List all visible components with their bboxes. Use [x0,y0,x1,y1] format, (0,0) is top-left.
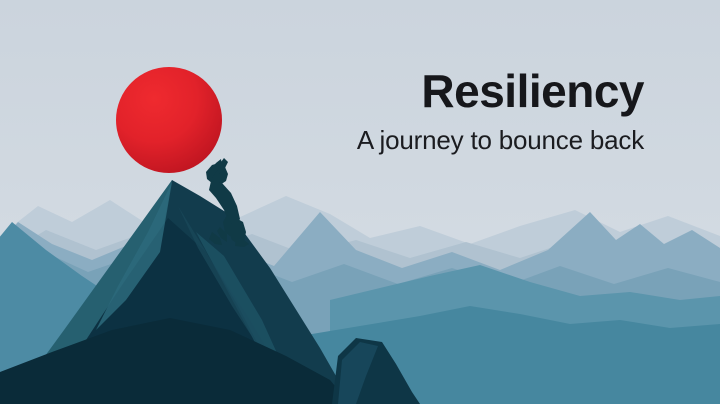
red-ball [116,67,222,173]
poster-canvas: Resiliency A journey to bounce back [0,0,720,404]
scene-illustration [0,0,720,404]
